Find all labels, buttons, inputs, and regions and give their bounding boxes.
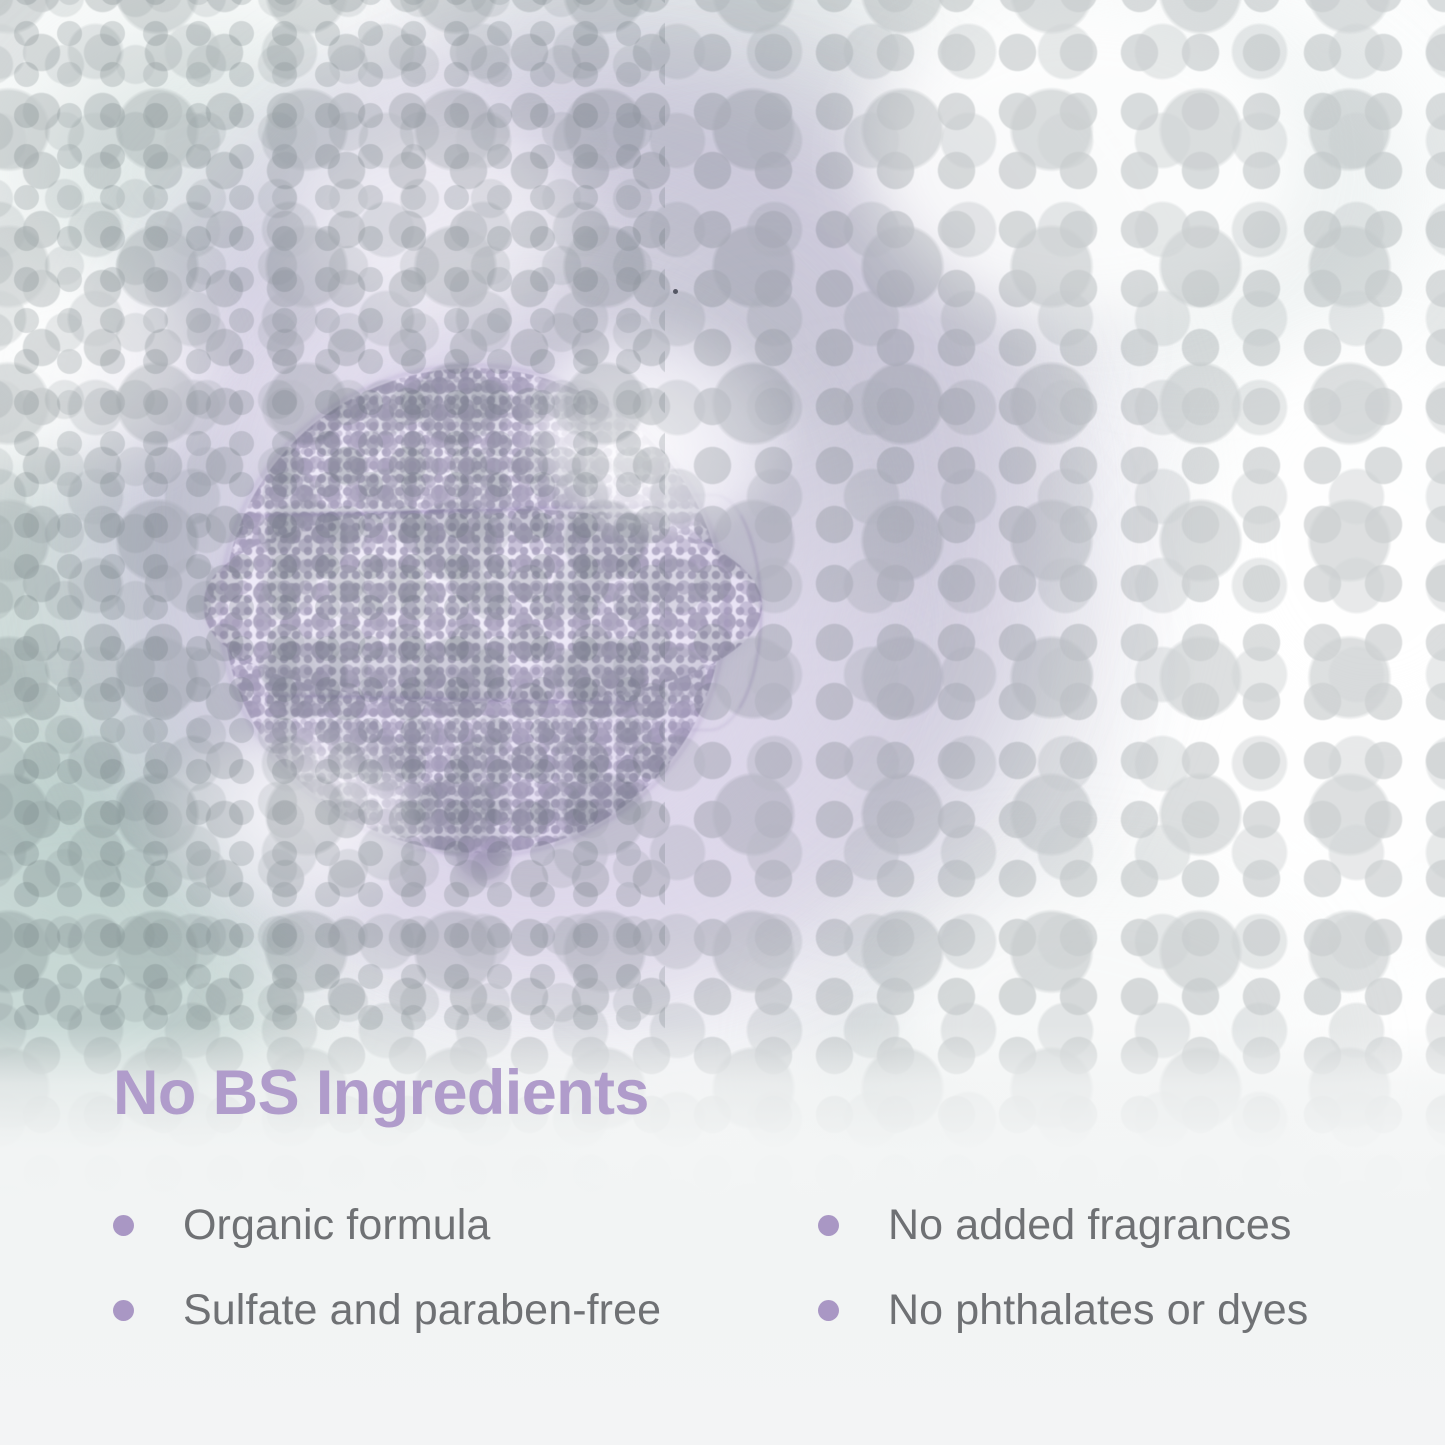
list-item-label: Organic formula	[183, 1203, 490, 1248]
bullet-dot-icon	[818, 1215, 839, 1236]
product-feature-image: No BS Ingredients Organic formula No add…	[0, 0, 1445, 1445]
list-item-label: Sulfate and paraben-free	[183, 1288, 661, 1333]
page-title: No BS Ingredients	[113, 1062, 1383, 1125]
list-item: Organic formula	[113, 1203, 818, 1248]
list-item: No added fragrances	[818, 1203, 1383, 1248]
claims-list: Organic formula No added fragrances Sulf…	[113, 1183, 1383, 1353]
bullet-dot-icon	[818, 1300, 839, 1321]
text-content: No BS Ingredients Organic formula No add…	[113, 1062, 1383, 1353]
bullet-dot-icon	[113, 1215, 134, 1236]
list-item: No phthalates or dyes	[818, 1288, 1383, 1333]
foam-grit-texture-dense	[0, 0, 665, 1040]
list-item-label: No phthalates or dyes	[888, 1288, 1308, 1333]
list-item: Sulfate and paraben-free	[113, 1288, 818, 1333]
bullet-dot-icon	[113, 1300, 134, 1321]
list-item-label: No added fragrances	[888, 1203, 1292, 1248]
